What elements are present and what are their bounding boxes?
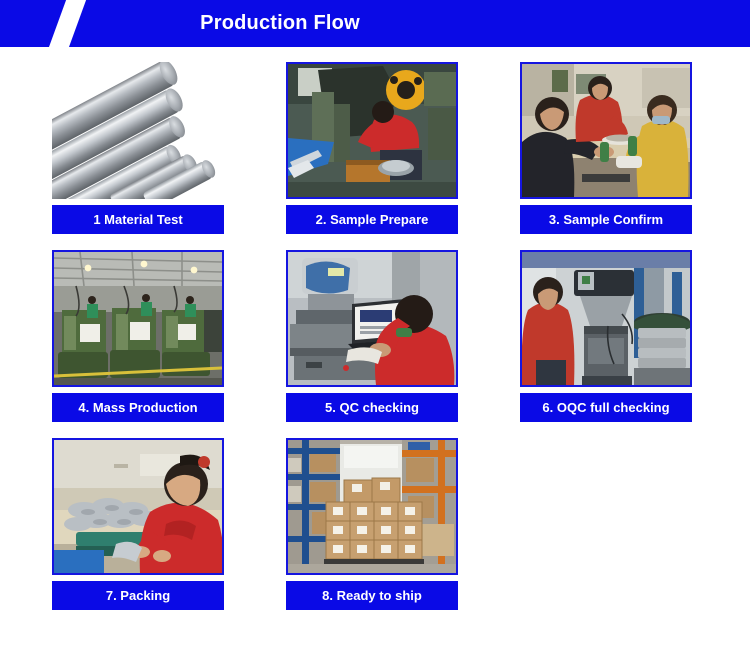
oqc-testing-equipment-photo (520, 250, 692, 387)
process-step-4[interactable]: 4. Mass Production (52, 250, 224, 422)
process-step-2[interactable]: 2. Sample Prepare (286, 62, 458, 234)
page-title: Production Flow (0, 0, 750, 47)
process-step-grid: 1 Material Test (52, 62, 698, 626)
steel-round-bars-photo (52, 62, 224, 199)
worker-at-press-machine-photo (286, 62, 458, 199)
page-header: Production Flow (0, 0, 750, 47)
process-step-3[interactable]: 3. Sample Confirm (520, 62, 692, 234)
process-step-6-label: 6. OQC full checking (520, 393, 692, 422)
cartons-on-pallet-warehouse-photo (286, 438, 458, 575)
staff-inspecting-samples-photo (520, 62, 692, 199)
process-step-5-label: 5. QC checking (286, 393, 458, 422)
process-step-7-label: 7. Packing (52, 581, 224, 610)
process-step-6[interactable]: 6. OQC full checking (520, 250, 692, 422)
process-step-8-label: 8. Ready to ship (286, 581, 458, 610)
process-step-2-label: 2. Sample Prepare (286, 205, 458, 234)
factory-machine-floor-photo (52, 250, 224, 387)
qc-operator-with-laptop-photo (286, 250, 458, 387)
process-step-3-label: 3. Sample Confirm (520, 205, 692, 234)
process-step-5[interactable]: 5. QC checking (286, 250, 458, 422)
worker-packing-parts-photo (52, 438, 224, 575)
process-step-7[interactable]: 7. Packing (52, 438, 224, 610)
production-flow-page: Production Flow (0, 0, 750, 647)
process-step-1[interactable]: 1 Material Test (52, 62, 224, 234)
process-step-1-label: 1 Material Test (52, 205, 224, 234)
process-step-8[interactable]: 8. Ready to ship (286, 438, 458, 610)
process-step-4-label: 4. Mass Production (52, 393, 224, 422)
